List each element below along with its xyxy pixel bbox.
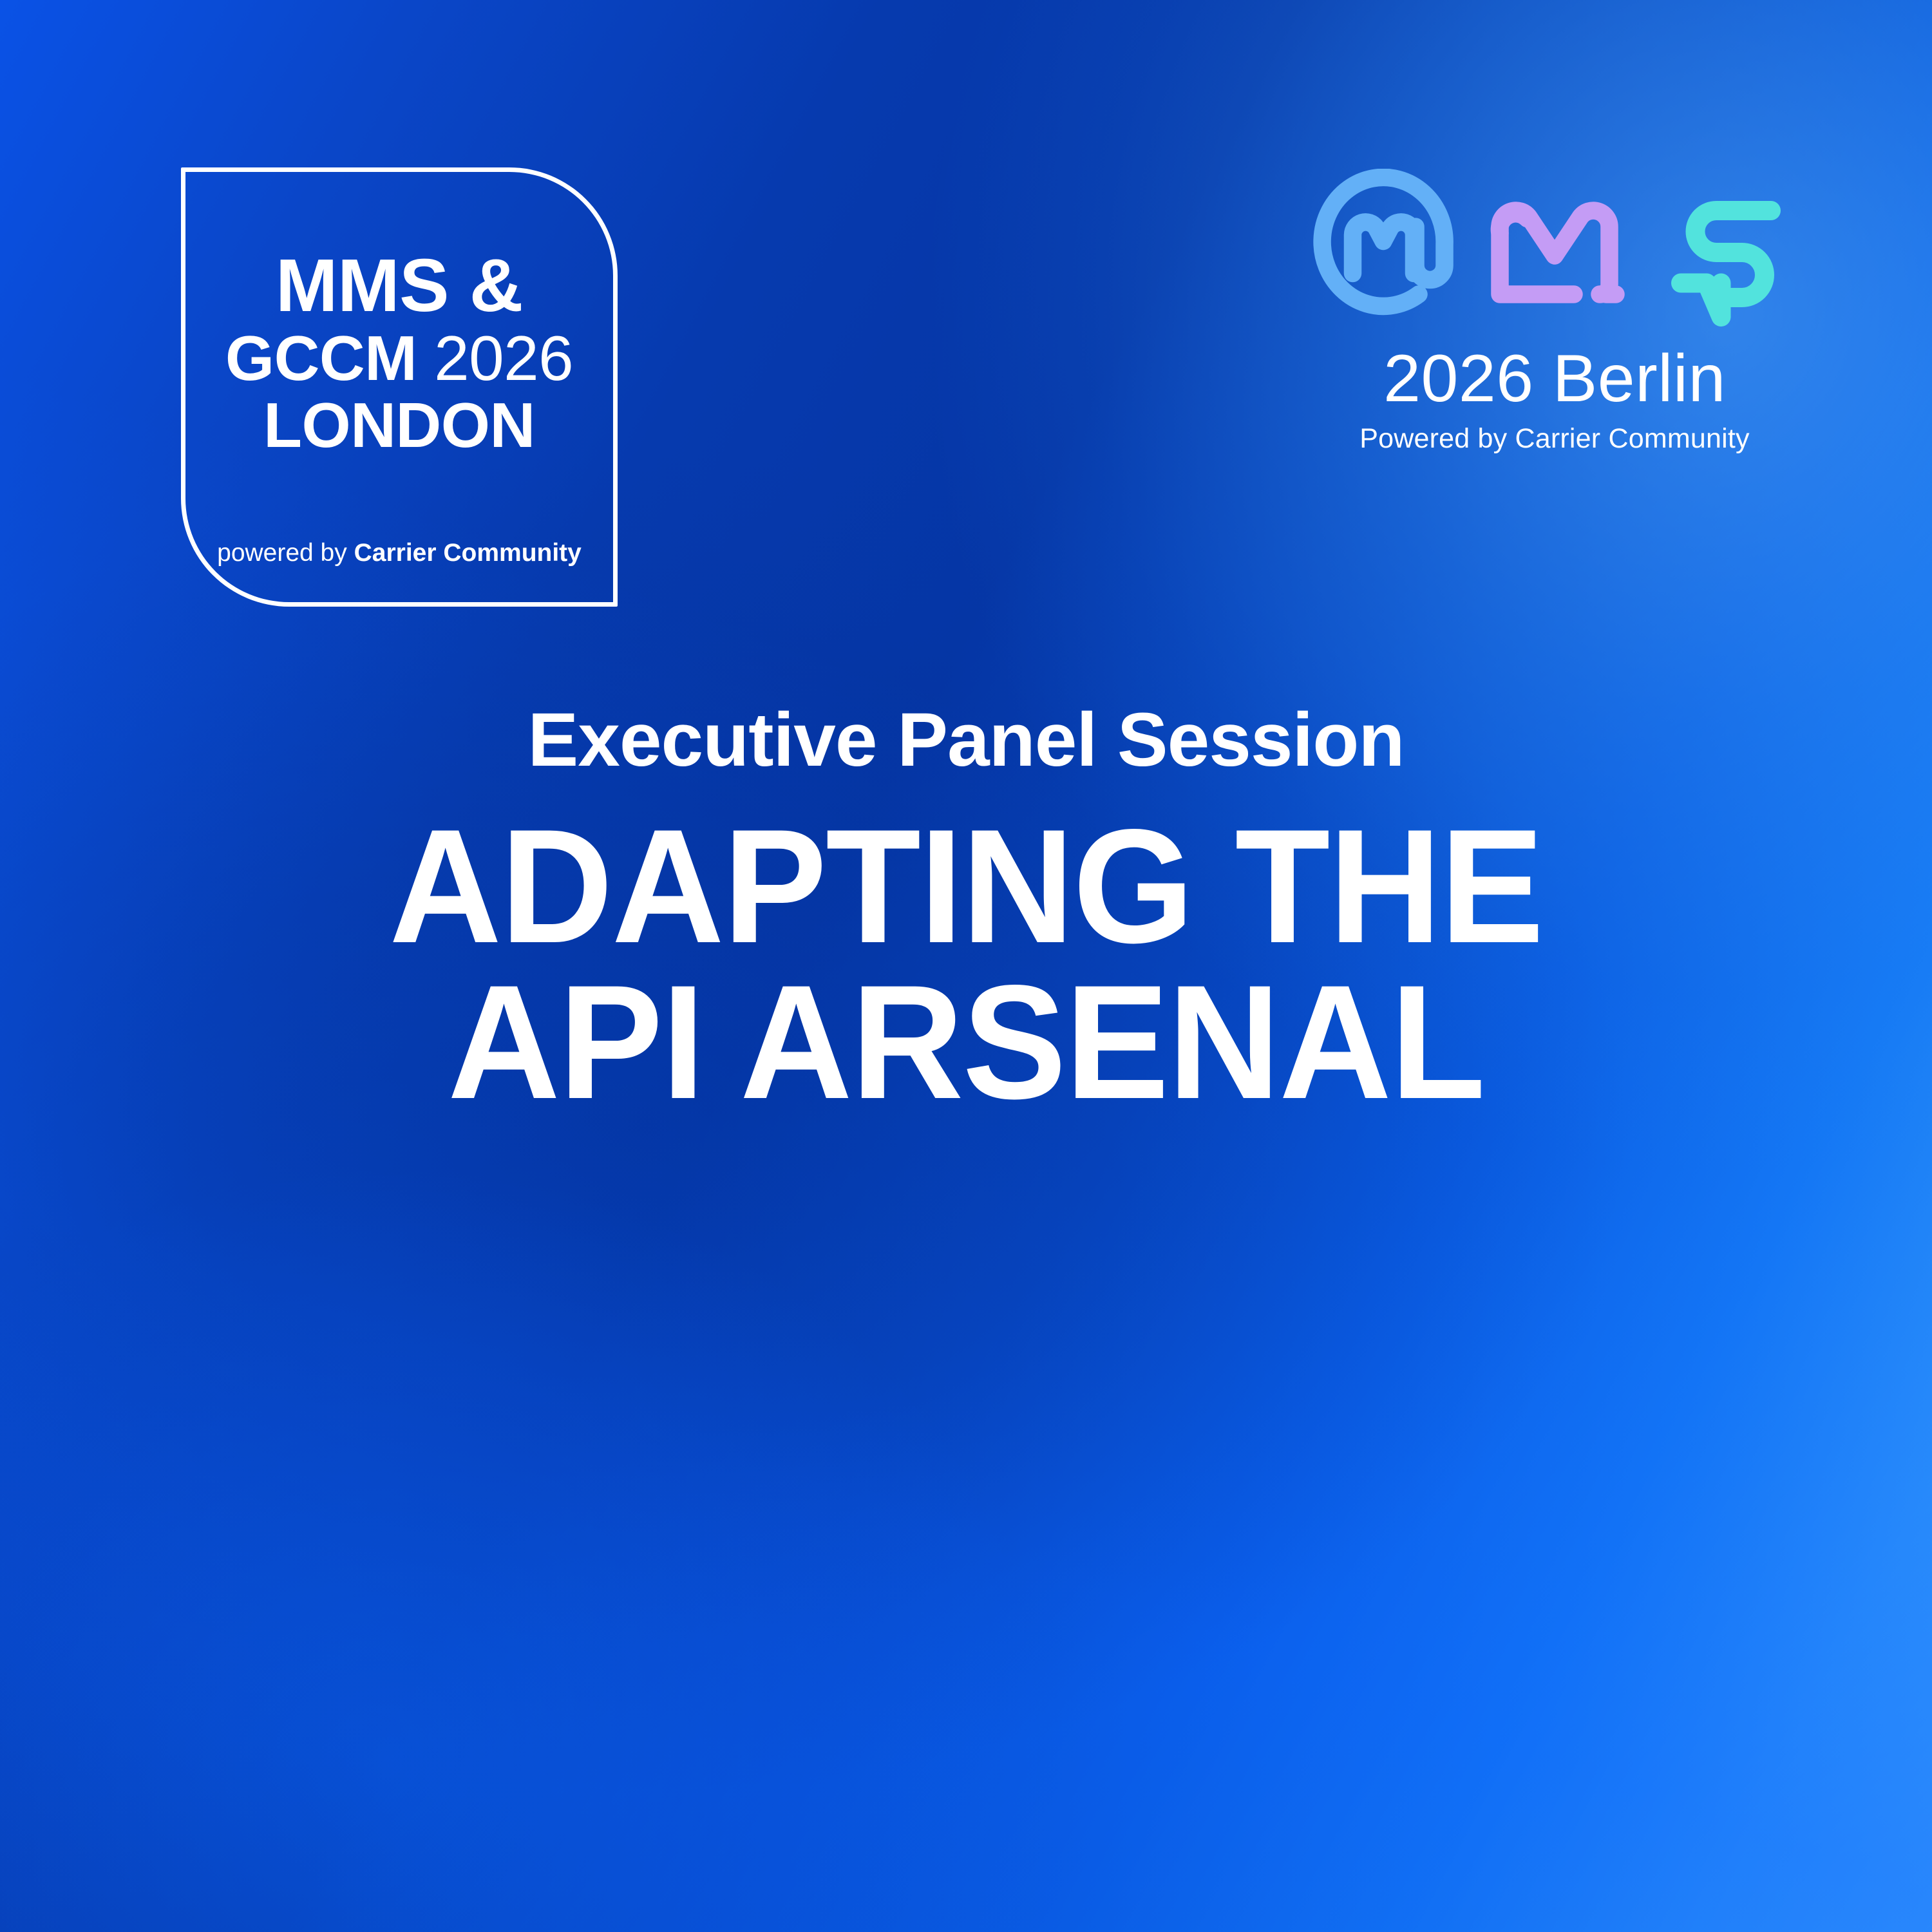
session-kicker: Executive Panel Session [97,702,1835,778]
event-logo-badge: MMS & GCCM 2026 LONDON powered by Carrie… [181,167,618,607]
background-bottom-left-glow [0,1082,1159,1932]
powered-by-brand: Carrier Community [354,539,582,567]
session-title-line-1: ADAPTING THE [131,809,1801,965]
mms-powered-by: Powered by Carrier Community [1359,423,1749,455]
event-logo-powered-by: powered by Carrier Community [217,539,582,567]
mms-brand-lockup: 2026 Berlin Powered by Carrier Community [1297,169,1812,455]
event-logo-line-2: GCCM 2026 [225,327,573,390]
event-logo-line-1: MMS & [225,248,573,323]
powered-by-prefix: powered by [217,539,347,567]
session-title: ADAPTING THE API ARSENAL [131,809,1801,1121]
event-logo-brand: GCCM [225,323,417,393]
event-logo-wordmark: MMS & GCCM 2026 LONDON [225,248,573,457]
session-title-line-2: API ARSENAL [131,965,1801,1121]
event-logo-year: 2026 [434,323,573,393]
mms-at-circle-m-icon [1303,169,1464,330]
mms-cyan-s-chat-icon [1645,169,1806,330]
mms-year-city: 2026 Berlin [1383,344,1726,414]
event-logo-city: LONDON [225,393,573,457]
mms-purple-m-icon [1474,169,1635,330]
session-block: Executive Panel Session ADAPTING THE API… [0,702,1932,1121]
mms-logo-mark [1303,169,1806,330]
session-announcement-card: MMS & GCCM 2026 LONDON powered by Carrie… [0,0,1932,1932]
